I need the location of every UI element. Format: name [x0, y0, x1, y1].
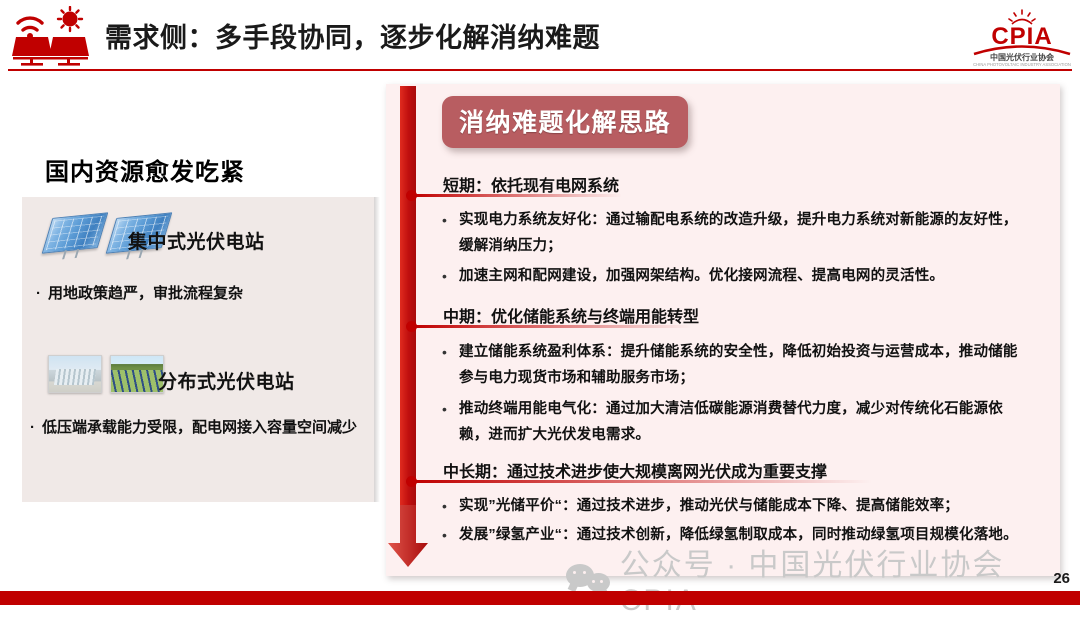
vertical-red-bar	[400, 86, 416, 506]
section-item-2-0: • 实现”光储平价“：通过技术进步，推动光伏与储能成本下降、提高储能效率；	[440, 493, 1040, 519]
slide-header: 需求侧：多手段协同，逐步化解消纳难题 CPIA 中国光伏行业协会 CHINA P…	[0, 0, 1080, 72]
bullet-dot: ·	[36, 285, 48, 302]
section-rule-0	[406, 193, 626, 198]
section-item-1-1: • 推动终端用能电气化：通过加大清洁低碳能源消费替代力度，减少对传统化石能源依赖…	[440, 396, 1030, 448]
distributed-pv-plant-icon	[48, 355, 164, 393]
section-line	[414, 325, 692, 328]
bullet-dot: •	[440, 522, 459, 548]
svg-text:CHINA PHOTOVOLTAIC INDUSTRY AS: CHINA PHOTOVOLTAIC INDUSTRY ASSOCIATION	[973, 62, 1071, 67]
right-panel-badge: 消纳难题化解思路	[442, 96, 688, 148]
bullet-dot: •	[440, 339, 459, 391]
left-info-card: 集中式光伏电站 ·用地政策趋严，审批流程复杂 分布式光伏电站 ·低压端承载能力受…	[22, 197, 374, 502]
section-item-0-0: • 实现电力系统友好化：通过输配电系统的改造升级，提升电力系统对新能源的友好性，…	[440, 207, 1030, 259]
left-section-title: 国内资源愈发吃紧	[45, 152, 245, 187]
bullet-dot: ·	[30, 419, 42, 436]
card-shadow	[374, 197, 380, 502]
bullet-dot: •	[440, 493, 459, 519]
slide: 需求侧：多手段协同，逐步化解消纳难题 CPIA 中国光伏行业协会 CHINA P…	[0, 0, 1080, 605]
section-item-1-0: • 建立储能系统盈利体系：提升储能系统的安全性，降低初始投资与运营成本，推动储能…	[440, 339, 1030, 391]
cpia-logo: CPIA 中国光伏行业协会 CHINA PHOTOVOLTAIC INDUSTR…	[970, 8, 1074, 68]
left-block-bullet-0: ·用地政策趋严，审批流程复杂	[36, 282, 243, 303]
left-block-label-1: 分布式光伏电站	[158, 367, 295, 394]
bullet-dot: •	[440, 396, 459, 448]
bullet-dot: •	[440, 263, 459, 289]
footer-bar	[0, 591, 1080, 605]
page-number: 26	[1053, 570, 1070, 587]
down-arrow-icon	[378, 505, 438, 569]
svg-text:中国光伏行业协会: 中国光伏行业协会	[990, 52, 1054, 62]
section-item-0-1: • 加速主网和配网建设，加强网架结构。优化接网流程、提高电网的灵活性。	[440, 263, 1030, 289]
section-item-2-1: • 发展”绿氢产业“：通过技术创新，降低绿氢制取成本，同时推动绿氢项目规模化落地…	[440, 522, 1030, 548]
bullet-dot: •	[440, 207, 459, 259]
section-line	[414, 194, 622, 197]
left-block-bullet-1: ·低压端承载能力受限，配电网接入容量空间减少	[30, 416, 357, 437]
section-line	[414, 480, 872, 483]
left-block-label-0: 集中式光伏电站	[128, 227, 265, 254]
header-divider	[8, 69, 1072, 71]
section-rule-1	[406, 324, 696, 329]
section-rule-2	[406, 479, 876, 484]
page-title: 需求侧：多手段协同，逐步化解消纳难题	[105, 16, 600, 55]
solar-panel-signal-sun-icon	[8, 6, 94, 66]
